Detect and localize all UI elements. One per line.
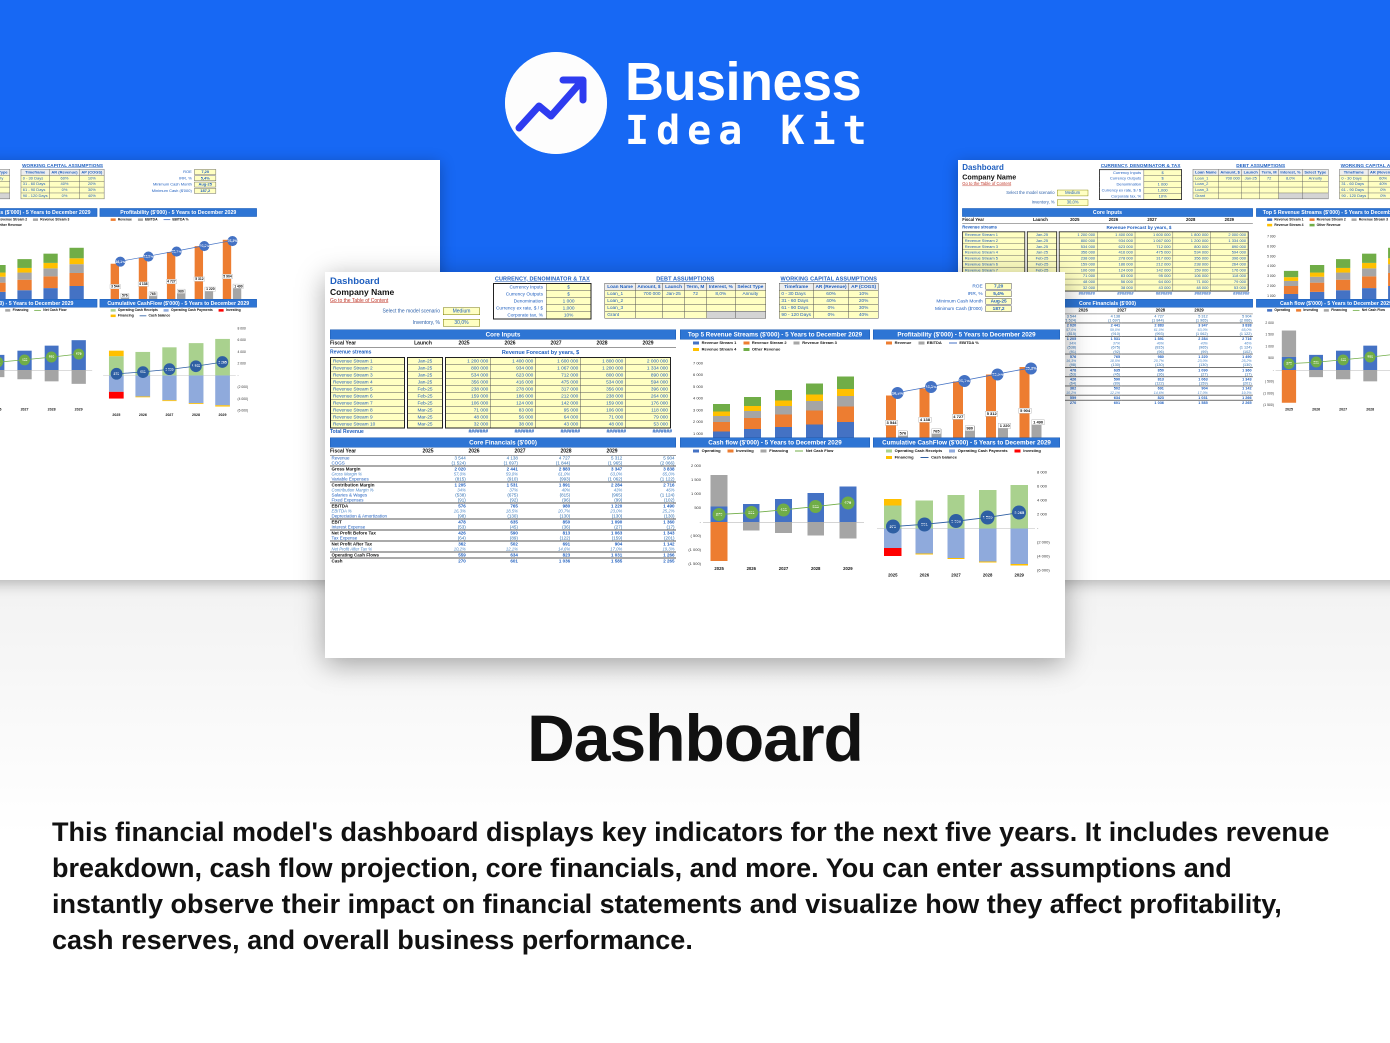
- revenue-forecast-cell[interactable]: 79 000: [626, 414, 671, 421]
- wc-row[interactable]: 0 - 30 Days60%10%: [21, 175, 104, 181]
- sheet-dashboard-label: Dashboard: [962, 163, 1088, 172]
- revenue-forecast-cell[interactable]: 594 000: [626, 379, 671, 386]
- chart-y-tick: 7 000: [680, 361, 703, 366]
- chart-bar-segment: [837, 396, 854, 406]
- revenue-forecast-cell[interactable]: 95 000: [536, 407, 581, 414]
- chart-y-tick: 1 000: [680, 431, 703, 436]
- legend-swatch: [693, 348, 699, 351]
- debt-row[interactable]: Loan_1700 000Jan-25728,0%Annuity: [605, 290, 766, 297]
- revenue-launch-row[interactable]: Jan-25: [408, 379, 443, 386]
- revenue-forecast-row[interactable]: 71 00083 00095 000106 000118 000: [446, 407, 671, 414]
- core-financials-cell: 601: [467, 558, 519, 564]
- revenue-launch-row[interactable]: Feb-25: [408, 393, 443, 400]
- revenue-launch-cell[interactable]: Mar-25: [408, 407, 443, 414]
- revenue-forecast-row[interactable]: 238 000278 000317 000356 000396 000: [446, 386, 671, 393]
- chart-title: Profitability ($'000) - 5 Years to Decem…: [100, 208, 257, 216]
- chart-y-tick: 1 000: [1256, 294, 1275, 298]
- debt-cell[interactable]: Loan_2: [605, 297, 635, 304]
- debt-cell[interactable]: [1302, 193, 1328, 199]
- revenue-stream-row[interactable]: Revenue Stream 10: [331, 421, 405, 428]
- legend-label: Investing: [226, 308, 241, 312]
- table-of-content-link[interactable]: Go to the Table of Content: [330, 298, 480, 304]
- revenue-forecast-cell[interactable]: 142 000: [536, 400, 581, 407]
- table-of-content-link[interactable]: Go to the Table of Content: [962, 182, 1088, 187]
- year-header: 2029: [625, 341, 671, 347]
- chart-bar-segment: [1362, 268, 1376, 276]
- wc-row[interactable]: 61 - 90 Days0%30%: [21, 187, 104, 193]
- revenue-forecast-cell[interactable]: 106 000: [446, 400, 491, 407]
- chart-title: Cumulative CashFlow ($'000) - 5 Years to…: [873, 438, 1060, 448]
- revenue-stream-names-table: Revenue Stream 1 Revenue Stream 2 Revenu…: [330, 357, 405, 429]
- currency-table: Currency Inputs $Currency Outputs $Denom…: [1099, 169, 1182, 200]
- legend-swatch: [111, 309, 116, 312]
- revenue-stream-name[interactable]: Revenue Stream 4: [331, 379, 405, 386]
- revenue-forecast-cell[interactable]: 176 000: [626, 400, 671, 407]
- chart-cash-flow: Cash flow ($'000) - 5 Years to December …: [680, 438, 870, 563]
- revenue-forecast-cell[interactable]: 396 000: [626, 386, 671, 393]
- legend-swatch: [219, 309, 224, 312]
- debt-cell[interactable]: [663, 304, 684, 311]
- scenario-select[interactable]: Medium: [1057, 190, 1088, 196]
- revenue-forecast-cell[interactable]: 534 000: [581, 379, 626, 386]
- total-revenue-cell: #######: [1172, 292, 1211, 297]
- revenue-stream-row[interactable]: Revenue Stream 1: [331, 358, 405, 365]
- wc-row[interactable]: 31 - 60 Days40%20%: [779, 297, 878, 304]
- revenue-stream-row[interactable]: Revenue Stream 4: [331, 379, 405, 386]
- debt-cell[interactable]: [635, 311, 663, 318]
- inventory-label: Inventory, %: [413, 320, 440, 326]
- revenue-forecast-cell[interactable]: 534 000: [446, 372, 491, 379]
- revenue-launch-cell[interactable]: Jan-25: [408, 379, 443, 386]
- debt-row[interactable]: Grant: [1193, 193, 1328, 199]
- total-revenue-cell: #######: [1134, 292, 1173, 297]
- chart-bar-segment: [1310, 283, 1324, 292]
- currency-row-value[interactable]: $: [546, 291, 591, 298]
- currency-row-value[interactable]: 10%: [546, 312, 591, 319]
- legend-label: Revenue Stream 2: [752, 341, 787, 346]
- debt-cell[interactable]: 72: [684, 290, 706, 297]
- revenue-forecast-cell[interactable]: 64 000: [536, 414, 581, 421]
- chart-bar-segment: [43, 253, 57, 263]
- currency-row-value[interactable]: 10%: [1144, 193, 1182, 199]
- revenue-stream-name[interactable]: Revenue Stream 2: [331, 365, 405, 372]
- revenue-launch-row[interactable]: Feb-25: [408, 386, 443, 393]
- year-header: 2025: [405, 449, 451, 455]
- debt-cell[interactable]: [684, 297, 706, 304]
- chart-legend: Operating Cash Receipts Operating Cash P…: [100, 307, 257, 317]
- working-capital-table: TimeframeAR (Revenue)AP (COGS) 0 - 30 Da…: [779, 283, 879, 319]
- year-header: 2027: [1133, 218, 1172, 223]
- legend-swatch: [743, 341, 749, 344]
- revenue-stream-row[interactable]: Revenue Stream 9: [331, 414, 405, 421]
- legend-item: Operating Cash Receipts: [111, 308, 158, 312]
- revenue-stream-name[interactable]: Revenue Stream 1: [331, 358, 405, 365]
- revenue-forecast-cell[interactable]: 53 000: [626, 421, 671, 428]
- revenue-forecast-cell[interactable]: 238 000: [446, 386, 491, 393]
- wc-cell[interactable]: 60%: [813, 290, 849, 297]
- revenue-launch-cell[interactable]: Jan-25: [408, 372, 443, 379]
- debt-cell[interactable]: [0, 193, 10, 199]
- revenue-forecast-cell[interactable]: 317 000: [536, 386, 581, 393]
- chart-legend: Revenue Stream 1 Revenue Stream 2 Revenu…: [0, 217, 97, 227]
- debt-cell[interactable]: [684, 311, 706, 318]
- debt-table: Loan NameAmount, $LaunchTerm, MInterest,…: [1193, 169, 1328, 199]
- inventory-label: Inventory, %: [1032, 200, 1055, 205]
- legend-item: Revenue Stream 1: [693, 341, 736, 346]
- revenue-forecast-cell[interactable]: 186 000: [491, 393, 536, 400]
- wc-cell[interactable]: 30%: [849, 304, 878, 311]
- chart-bar-segment: [17, 259, 31, 268]
- core-financials-row-label: Cash: [330, 558, 415, 564]
- chart-bar-segment: [713, 412, 730, 416]
- legend-label: Revenue Stream 3: [40, 218, 69, 222]
- wc-cell[interactable]: 20%: [849, 297, 878, 304]
- wc-row[interactable]: 90 - 120 Days0%40%: [779, 311, 878, 318]
- revenue-forecast-cell[interactable]: 1 800 000: [581, 358, 626, 365]
- currency-row-label: Corporate tax, %: [494, 312, 547, 319]
- revenue-forecast-row[interactable]: 32 00038 00043 00048 00053 000: [1059, 285, 1248, 291]
- core-financials-cell: 1 036: [519, 558, 571, 564]
- chart-top5-revenue-streams: Top 5 Revenue Streams ($'000) - 5 Years …: [1256, 208, 1390, 296]
- fiscal-year-header: Fiscal Year Launch 20252026202720282029: [962, 217, 1253, 224]
- revenue-forecast-cell[interactable]: 238 000: [581, 393, 626, 400]
- wc-cell[interactable]: 90 - 120 Days: [1339, 193, 1368, 199]
- revenue-forecast-row[interactable]: 800 000934 0001 067 0001 200 0001 334 00…: [446, 365, 671, 372]
- chart-bar-segment: [0, 265, 6, 273]
- legend-swatch: [1353, 310, 1360, 311]
- chart-top5-revenue-streams: Top 5 Revenue Streams ($'000) - 5 Years …: [680, 330, 870, 435]
- launch-label: Launch: [405, 341, 441, 347]
- revenue-launch-row[interactable]: Jan-25: [408, 358, 443, 365]
- wc-cell[interactable]: 61 - 90 Days: [1339, 187, 1368, 193]
- chart-bar-segment: [0, 277, 6, 283]
- debt-col-header: Launch: [663, 283, 684, 290]
- revenue-forecast-cell[interactable]: 159 000: [446, 393, 491, 400]
- legend-label: Operating Cash Receipts: [118, 308, 158, 312]
- revenue-forecast-row[interactable]: 106 000124 000142 000159 000176 000: [446, 400, 671, 407]
- working-capital-table: TimeframeAR (Revenue)AP (COGS) 0 - 30 Da…: [21, 169, 105, 199]
- chart-bar-segment: [1336, 268, 1350, 273]
- brand-logo: Business Idea Kit: [505, 52, 874, 154]
- debt-col-header: Term, M: [684, 283, 706, 290]
- revenue-forecast-cell[interactable]: 43 000: [536, 421, 581, 428]
- wc-col-header: AP (COGS): [79, 169, 104, 175]
- inventory-input[interactable]: 30,0%: [443, 319, 480, 327]
- legend-item: Revenue Stream 2: [743, 341, 786, 346]
- debt-cell[interactable]: [707, 297, 736, 304]
- wc-cell[interactable]: 0%: [813, 304, 849, 311]
- year-header: 2026: [487, 341, 533, 347]
- revenue-forecast-cell[interactable]: 1 600 000: [536, 358, 581, 365]
- revenue-forecast-cell[interactable]: 800 000: [581, 372, 626, 379]
- kpi-value: 7,20: [194, 169, 216, 174]
- debt-cell[interactable]: [735, 297, 766, 304]
- debt-col-header: Amount, $: [635, 283, 663, 290]
- revenue-forecast-row[interactable]: 32 00038 00043 00048 00053 000: [446, 421, 671, 428]
- debt-cell[interactable]: Annuity: [735, 290, 766, 297]
- legend-label: Revenue Stream 2: [0, 218, 27, 222]
- kpi-value: Aug-25: [986, 298, 1012, 305]
- wc-cell[interactable]: 90 - 120 Days: [779, 311, 813, 318]
- wc-cell[interactable]: 40%: [813, 297, 849, 304]
- legend-swatch: [886, 456, 892, 459]
- chart-bar-segment: [775, 414, 792, 426]
- legend-swatch: [921, 457, 929, 458]
- wc-cell[interactable]: 0 - 30 Days: [779, 290, 813, 297]
- chart-bar-segment: [69, 264, 83, 273]
- revenue-forecast-cell[interactable]: 1 200 000: [581, 365, 626, 372]
- chart-bar-segment: [806, 395, 823, 401]
- revenue-forecast-cell[interactable]: 38 000: [1097, 285, 1135, 291]
- revenue-stream-name[interactable]: Revenue Stream 7: [331, 400, 405, 407]
- year-header: 2028: [1171, 218, 1210, 223]
- legend-swatch: [33, 218, 38, 221]
- wc-col-header: AR (Revenue): [50, 169, 80, 175]
- revenue-launch-cell[interactable]: Mar-25: [408, 414, 443, 421]
- debt-row[interactable]: Loan_2: [605, 297, 766, 304]
- revenue-launch-row[interactable]: Mar-25: [408, 421, 443, 428]
- revenue-forecast-cell[interactable]: 32 000: [446, 421, 491, 428]
- legend-label: Revenue Stream 1: [702, 341, 737, 346]
- legend-swatch: [1267, 218, 1272, 221]
- wc-cell[interactable]: 40%: [849, 311, 878, 318]
- chart-top5-revenue-streams: Top 5 Revenue Streams ($'000) - 5 Years …: [0, 208, 97, 296]
- revenue-forecast-cell[interactable]: 1 067 000: [536, 365, 581, 372]
- chart-bar-segment: [837, 376, 854, 389]
- revenue-stream-name[interactable]: Revenue Stream 5: [331, 386, 405, 393]
- wc-cell[interactable]: 61 - 90 Days: [21, 187, 50, 193]
- revenue-forecast-cell[interactable]: 264 000: [626, 393, 671, 400]
- wc-row[interactable]: 0 - 30 Days60%10%: [779, 290, 878, 297]
- revenue-forecast-cell[interactable]: 712 000: [536, 372, 581, 379]
- revenue-launch-cell[interactable]: Feb-25: [408, 400, 443, 407]
- revenue-forecast-cell[interactable]: 1 200 000: [446, 358, 491, 365]
- revenue-forecast-cell[interactable]: 48 000: [1173, 285, 1211, 291]
- revenue-launch-cell[interactable]: Feb-25: [408, 393, 443, 400]
- revenue-launch-cell[interactable]: Jan-25: [408, 365, 443, 372]
- debt-cell[interactable]: Grant: [605, 311, 635, 318]
- currency-row-value[interactable]: 1 000: [546, 298, 591, 305]
- debt-table: Loan NameAmount, $LaunchTerm, MInterest,…: [0, 169, 10, 199]
- revenue-forecast-row[interactable]: 159 000186 000212 000238 000264 000: [446, 393, 671, 400]
- wc-col-header: AR (Revenue): [1368, 169, 1390, 175]
- year-header: 2027: [1102, 308, 1141, 313]
- revenue-forecast-cell[interactable]: 212 000: [536, 393, 581, 400]
- year-header: 2025: [1055, 218, 1094, 223]
- revenue-stream-name[interactable]: Revenue Stream 6: [331, 393, 405, 400]
- wc-cell[interactable]: 31 - 60 Days: [1339, 181, 1368, 187]
- revenue-stream-name[interactable]: Revenue Stream 10: [331, 421, 405, 428]
- debt-cell[interactable]: 8,0%: [707, 290, 736, 297]
- wc-row[interactable]: 31 - 60 Days40%20%: [21, 181, 104, 187]
- chart-title: Top 5 Revenue Streams ($'000) - 5 Years …: [680, 330, 870, 340]
- kpi-value: 5,4%: [986, 291, 1012, 298]
- chart-bar-segment: [1336, 272, 1350, 279]
- revenue-forecast-cell[interactable]: 53 000: [1210, 285, 1248, 291]
- revenue-forecast-row[interactable]: 48 00056 00064 00071 00079 000: [446, 414, 671, 421]
- debt-cell[interactable]: [663, 311, 684, 318]
- wc-cell[interactable]: 61 - 90 Days: [779, 304, 813, 311]
- revenue-forecast-cell[interactable]: 475 000: [536, 379, 581, 386]
- chart-y-tick: 6 000: [680, 373, 703, 378]
- debt-cell[interactable]: [663, 297, 684, 304]
- currency-row-value[interactable]: $: [546, 284, 591, 291]
- chart-bar-segment: [1284, 281, 1298, 286]
- debt-cell[interactable]: [707, 304, 736, 311]
- revenue-stream-row[interactable]: Revenue Stream 6: [331, 393, 405, 400]
- scenario-select[interactable]: Medium: [443, 308, 480, 316]
- revenue-launch-row[interactable]: Jan-25: [408, 372, 443, 379]
- chart-cumulative-cashflow: Cumulative CashFlow ($'000) - 5 Years to…: [100, 299, 257, 404]
- revenue-launch-row[interactable]: Feb-25: [408, 400, 443, 407]
- revenue-stream-row[interactable]: Revenue Stream 7: [331, 400, 405, 407]
- debt-cell[interactable]: [635, 297, 663, 304]
- currency-row-label: Currency Inputs: [494, 284, 547, 291]
- wc-cell[interactable]: 31 - 60 Days: [21, 181, 50, 187]
- legend-swatch: [163, 219, 170, 220]
- debt-cell[interactable]: [1260, 193, 1279, 199]
- kpi-value: 5,4%: [194, 176, 216, 181]
- revenue-forecast-cell[interactable]: 1 334 000: [626, 365, 671, 372]
- debt-col-header: Select Type: [1302, 169, 1328, 175]
- debt-cell[interactable]: [1242, 193, 1260, 199]
- revenue-stream-row[interactable]: Revenue Stream 2: [331, 365, 405, 372]
- debt-cell[interactable]: [1218, 193, 1241, 199]
- revenue-forecast-cell[interactable]: 83 000: [491, 407, 536, 414]
- chart-line-net-cash-flow: [0, 312, 97, 417]
- chart-title: Top 5 Revenue Streams ($'000) - 5 Years …: [1256, 208, 1390, 216]
- revenue-forecast-cell[interactable]: 800 000: [446, 365, 491, 372]
- debt-cell[interactable]: Jan-25: [663, 290, 684, 297]
- chart-bar-segment: [1336, 259, 1350, 268]
- wc-cell[interactable]: 90 - 120 Days: [21, 193, 50, 199]
- debt-row[interactable]: Grant: [0, 193, 10, 199]
- chart-title: Cash flow ($'000) - 5 Years to December …: [680, 438, 870, 448]
- revenue-forecast-cell[interactable]: 71 000: [446, 407, 491, 414]
- chart-legend: Operating Cash Receipts Operating Cash P…: [873, 448, 1060, 460]
- wc-cell[interactable]: 40%: [79, 193, 104, 199]
- revenue-forecast-cell[interactable]: 416 000: [491, 379, 536, 386]
- currency-row-label: Denomination: [494, 298, 547, 305]
- core-financials-title: Core Financials ($'000): [330, 438, 676, 448]
- revenue-forecast-cell[interactable]: 356 000: [581, 386, 626, 393]
- total-revenue-cell: #######: [442, 429, 488, 435]
- legend-label: Revenue Stream 3: [802, 341, 837, 346]
- chart-bar-segment: [1362, 263, 1376, 268]
- fiscal-year-header: Fiscal Year Launch 20252026202720282029: [330, 340, 676, 348]
- revenue-forecast-cell[interactable]: 38 000: [491, 421, 536, 428]
- revenue-forecast-cell[interactable]: 278 000: [491, 386, 536, 393]
- revenue-stream-name[interactable]: Revenue Stream 3: [331, 372, 405, 379]
- wc-cell[interactable]: 10%: [849, 290, 878, 297]
- inventory-input[interactable]: 30,0%: [1057, 199, 1088, 205]
- debt-cell[interactable]: Loan_1: [605, 290, 635, 297]
- fiscal-year-label: Fiscal Year: [330, 341, 405, 347]
- revenue-forecast-cell[interactable]: 890 000: [626, 372, 671, 379]
- chart-bar-segment: [744, 406, 761, 411]
- chart-bar-segment: [806, 383, 823, 394]
- revenue-forecast-cell[interactable]: 71 000: [581, 414, 626, 421]
- chart-bar-segment: [1310, 277, 1324, 283]
- revenue-launch-row[interactable]: Mar-25: [408, 414, 443, 421]
- debt-col-header: Interest, %: [1279, 169, 1303, 175]
- revenue-stream-row[interactable]: Revenue Stream 5: [331, 386, 405, 393]
- wc-row[interactable]: 61 - 90 Days0%30%: [779, 304, 878, 311]
- revenue-forecast-cell[interactable]: 356 000: [446, 379, 491, 386]
- revenue-launch-cell[interactable]: Jan-25: [408, 358, 443, 365]
- debt-row[interactable]: Grant: [605, 311, 766, 318]
- debt-cell[interactable]: Grant: [1193, 193, 1218, 199]
- debt-cell[interactable]: [1279, 193, 1303, 199]
- legend-swatch: [743, 348, 749, 351]
- revenue-launch-row[interactable]: Jan-25: [408, 365, 443, 372]
- revenue-forecast-row[interactable]: 534 000623 000712 000800 000890 000: [446, 372, 671, 379]
- core-inputs-title: Core Inputs: [330, 330, 676, 340]
- chart-bar-segment: [0, 283, 6, 292]
- revenue-forecast-cell[interactable]: 124 000: [491, 400, 536, 407]
- debt-cell[interactable]: [684, 304, 706, 311]
- revenue-forecast-row[interactable]: 356 000416 000475 000534 000594 000: [446, 379, 671, 386]
- revenue-forecast-cell[interactable]: 48 000: [446, 414, 491, 421]
- debt-cell[interactable]: 700 000: [635, 290, 663, 297]
- revenue-stream-name[interactable]: Revenue Stream 9: [331, 414, 405, 421]
- revenue-launch-cell[interactable]: Feb-25: [408, 386, 443, 393]
- revenue-forecast-cell[interactable]: 43 000: [1135, 285, 1173, 291]
- revenue-stream-name[interactable]: Revenue Stream 8: [331, 407, 405, 414]
- kpi-label: IRR, %: [968, 291, 983, 297]
- revenue-launch-row[interactable]: Mar-25: [408, 407, 443, 414]
- revenue-stream-row[interactable]: Revenue Stream 8: [331, 407, 405, 414]
- debt-cell[interactable]: [735, 311, 766, 318]
- revenue-forecast-cell[interactable]: 1 400 000: [491, 358, 536, 365]
- debt-cell[interactable]: [707, 311, 736, 318]
- revenue-forecast-cell[interactable]: 48 000: [581, 421, 626, 428]
- revenue-forecast-cell[interactable]: 934 000: [491, 365, 536, 372]
- debt-block-title: DEBT ASSUMPTIONS: [605, 276, 766, 282]
- wc-cell[interactable]: 0%: [50, 193, 80, 199]
- wc-cell[interactable]: 31 - 60 Days: [779, 297, 813, 304]
- wc-cell[interactable]: 0%: [1368, 193, 1390, 199]
- chart-line-ebitda-pct: [100, 221, 257, 309]
- total-revenue-cell: #######: [626, 429, 672, 435]
- debt-cell[interactable]: [635, 304, 663, 311]
- wc-row[interactable]: 90 - 120 Days0%40%: [1339, 193, 1390, 199]
- revenue-launch-cell[interactable]: Mar-25: [408, 421, 443, 428]
- legend-item: Operating Cash Receipts: [886, 449, 942, 454]
- wc-cell[interactable]: 0%: [813, 311, 849, 318]
- revenue-forecast-cell[interactable]: 106 000: [581, 407, 626, 414]
- debt-cell[interactable]: Loan_3: [605, 304, 635, 311]
- revenue-forecast-cell[interactable]: 2 000 000: [626, 358, 671, 365]
- revenue-forecast-cell[interactable]: 118 000: [626, 407, 671, 414]
- chart-line-net-cash-flow: [1256, 312, 1390, 417]
- wc-col-header: AR (Revenue): [813, 283, 849, 290]
- revenue-forecast-row[interactable]: 1 200 0001 400 0001 600 0001 800 0002 00…: [446, 358, 671, 365]
- revenue-stream-row[interactable]: Revenue Stream 3: [331, 372, 405, 379]
- currency-row-value[interactable]: 1,000: [546, 305, 591, 312]
- chart-y-tick: 4 000: [1256, 264, 1275, 268]
- debt-cell[interactable]: [735, 304, 766, 311]
- wc-row[interactable]: 90 - 120 Days0%40%: [21, 193, 104, 199]
- legend-swatch: [886, 341, 892, 344]
- debt-row[interactable]: Loan_3: [605, 304, 766, 311]
- chart-cash-flow: Cash flow ($'000) - 5 Years to December …: [1256, 299, 1390, 404]
- revenue-forecast-cell[interactable]: 56 000: [491, 414, 536, 421]
- dashboard-screenshot-center: Dashboard Company Name Go to the Table o…: [325, 272, 1065, 658]
- chart-bar-segment: [806, 401, 823, 410]
- revenue-forecast-cell[interactable]: 159 000: [581, 400, 626, 407]
- revenue-forecast-cell[interactable]: 623 000: [491, 372, 536, 379]
